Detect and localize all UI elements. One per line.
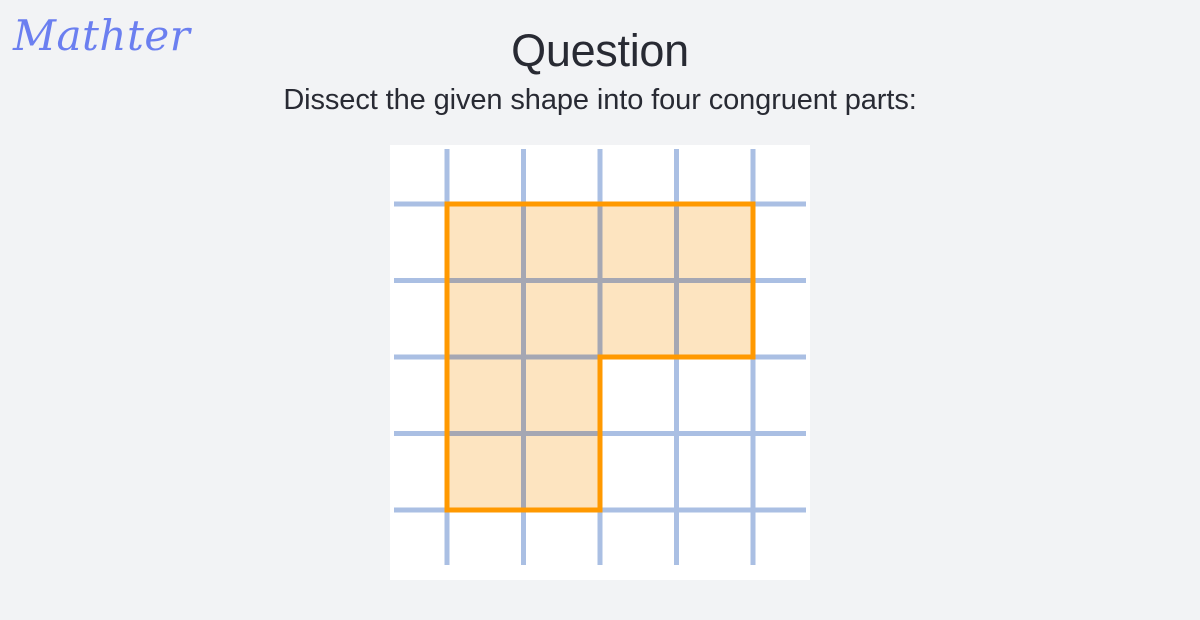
question-prompt: Dissect the given shape into four congru…	[0, 83, 1200, 118]
figure-panel	[390, 145, 810, 580]
question-header: Question Dissect the given shape into fo…	[0, 26, 1200, 117]
page-title: Question	[0, 26, 1200, 76]
shape-dissection-figure	[390, 145, 810, 580]
